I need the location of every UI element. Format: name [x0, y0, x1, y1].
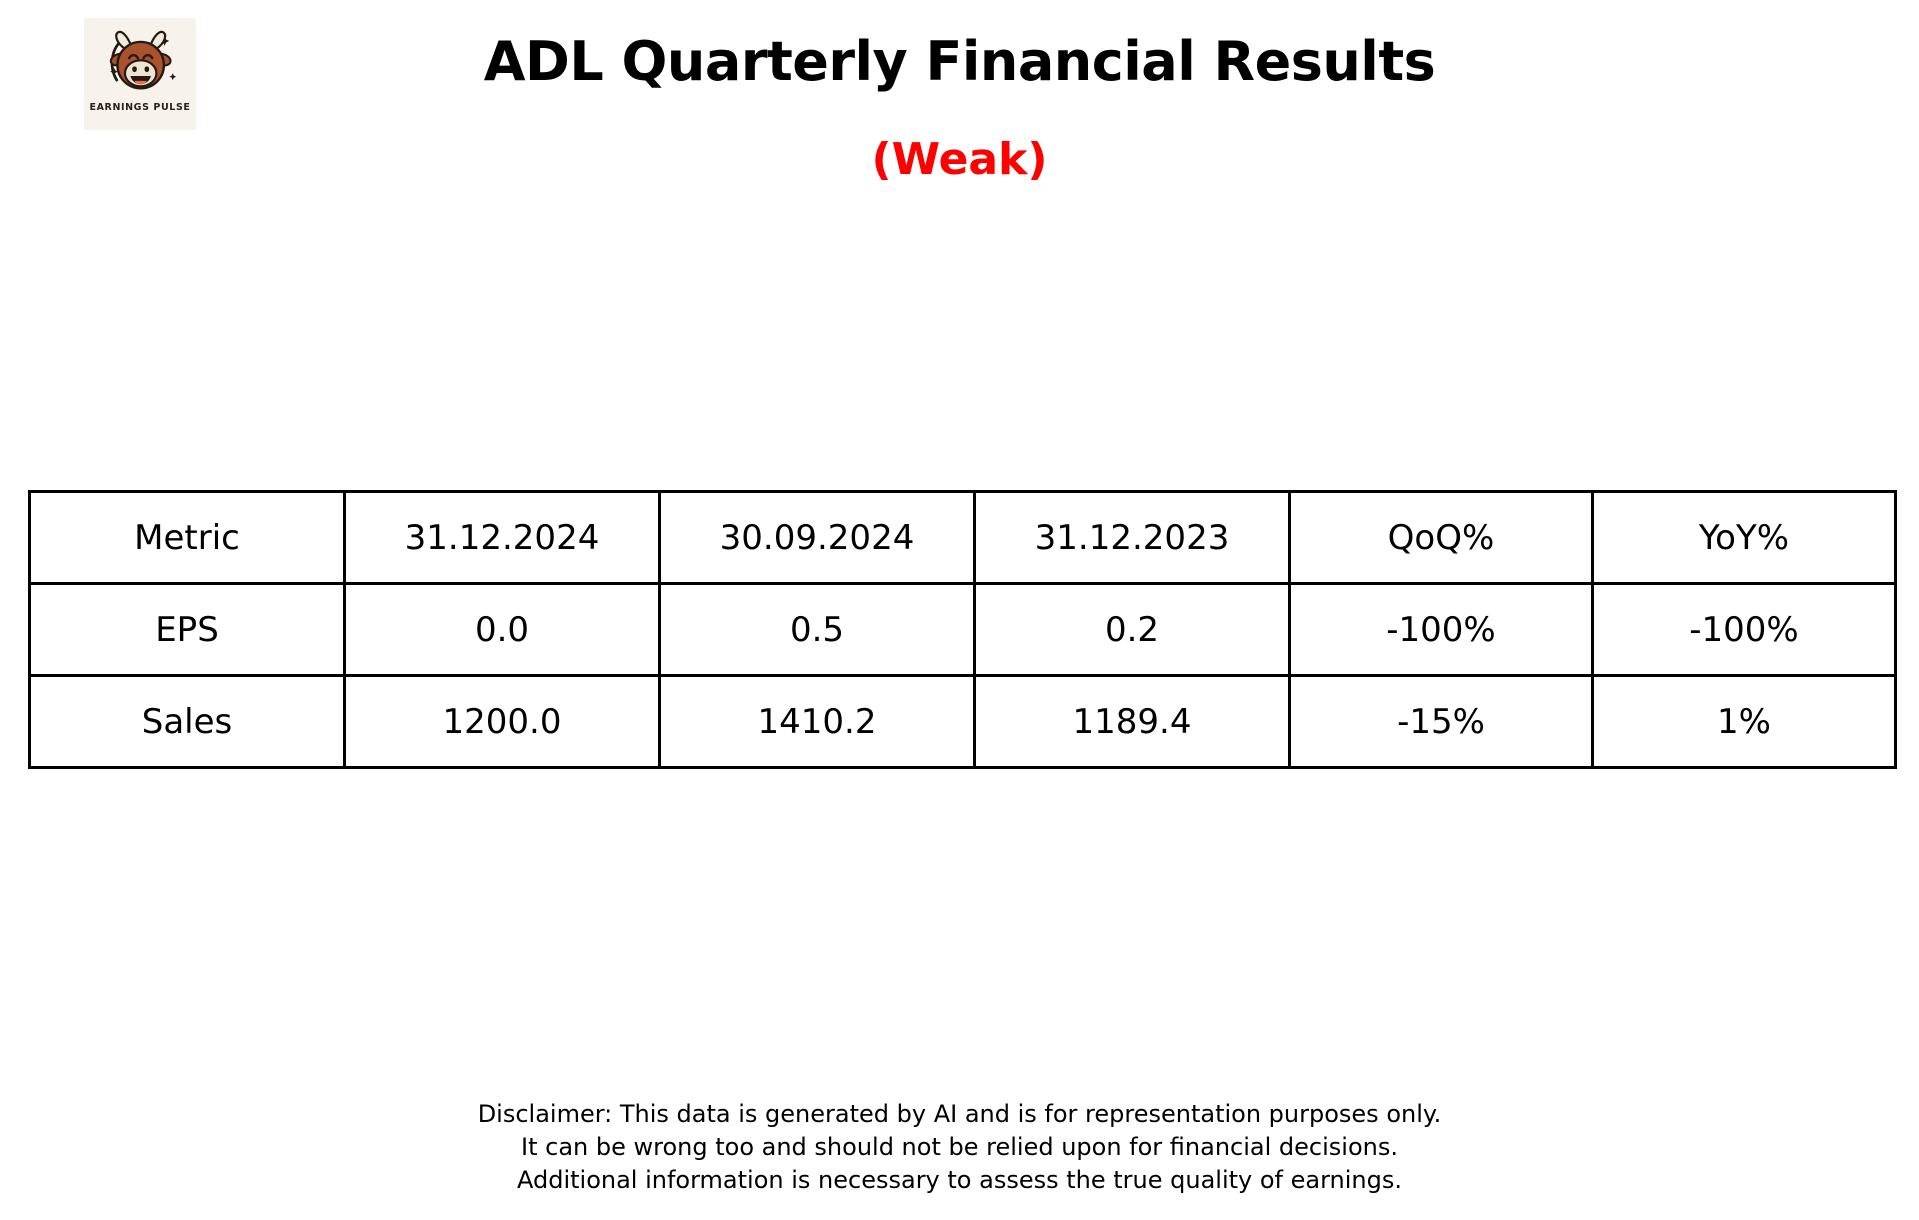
- column-header-metric: Metric: [30, 492, 345, 584]
- column-header-period-1: 31.12.2024: [345, 492, 660, 584]
- sales-yoy-change: 1%: [1593, 676, 1896, 768]
- eps-prior-quarter: 0.5: [660, 584, 975, 676]
- table-header-row: Metric 31.12.2024 30.09.2024 31.12.2023 …: [30, 492, 1896, 584]
- sales-current-quarter: 1200.0: [345, 676, 660, 768]
- table-row: EPS 0.0 0.5 0.2 -100% -100%: [30, 584, 1896, 676]
- quarterly-results-table: Metric 31.12.2024 30.09.2024 31.12.2023 …: [28, 490, 1897, 769]
- eps-yoy-change: -100%: [1593, 584, 1896, 676]
- disclaimer-line-1: Disclaimer: This data is generated by AI…: [0, 1098, 1919, 1131]
- sentiment-label: (Weak): [0, 134, 1919, 185]
- eps-year-ago-quarter: 0.2: [975, 584, 1290, 676]
- column-header-qoq: QoQ%: [1290, 492, 1593, 584]
- eps-qoq-change: -100%: [1290, 584, 1593, 676]
- disclaimer-line-2: It can be wrong too and should not be re…: [0, 1131, 1919, 1164]
- logo-wordmark: EARNINGS PULSE: [89, 102, 190, 113]
- column-header-period-2: 30.09.2024: [660, 492, 975, 584]
- sales-year-ago-quarter: 1189.4: [975, 676, 1290, 768]
- table-row: Sales 1200.0 1410.2 1189.4 -15% 1%: [30, 676, 1896, 768]
- sales-prior-quarter: 1410.2: [660, 676, 975, 768]
- disclaimer: Disclaimer: This data is generated by AI…: [0, 1098, 1919, 1197]
- row-label-sales: Sales: [30, 676, 345, 768]
- row-label-eps: EPS: [30, 584, 345, 676]
- sales-qoq-change: -15%: [1290, 676, 1593, 768]
- column-header-period-3: 31.12.2023: [975, 492, 1290, 584]
- column-header-yoy: YoY%: [1593, 492, 1896, 584]
- eps-current-quarter: 0.0: [345, 584, 660, 676]
- disclaimer-line-3: Additional information is necessary to a…: [0, 1164, 1919, 1197]
- page-title: ADL Quarterly Financial Results: [0, 30, 1919, 93]
